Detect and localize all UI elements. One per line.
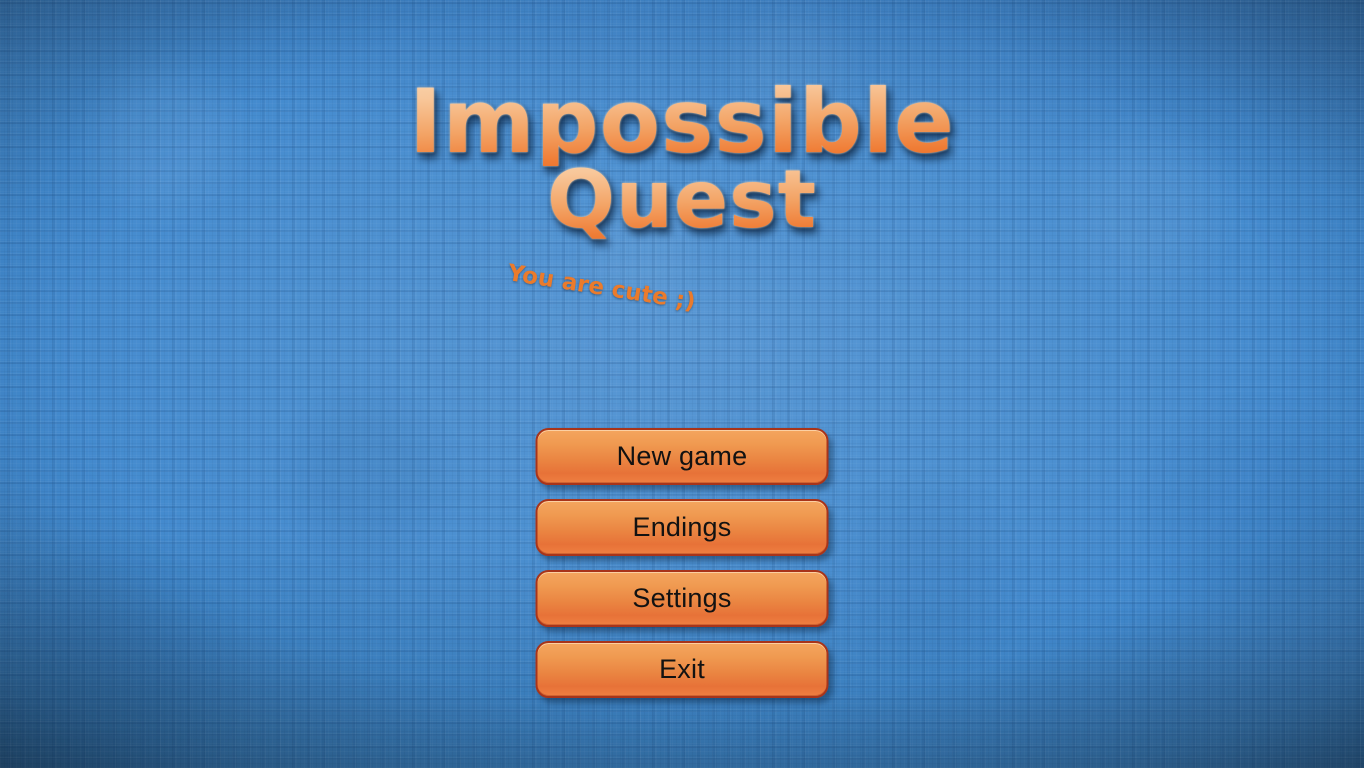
menu-button-label: Exit [659,656,705,683]
menu-button-label: Endings [633,514,732,541]
menu-button-settings[interactable]: Settings [536,570,829,627]
game-main-menu-screen: Impossible Quest You are cute ;) New gam… [0,0,1364,768]
menu-button-exit[interactable]: Exit [536,641,829,698]
menu-button-label: New game [617,443,748,470]
menu-button-endings[interactable]: Endings [536,499,829,556]
main-menu: New game Endings Settings Exit [536,428,829,698]
menu-button-new-game[interactable]: New game [536,428,829,485]
menu-button-label: Settings [632,585,731,612]
